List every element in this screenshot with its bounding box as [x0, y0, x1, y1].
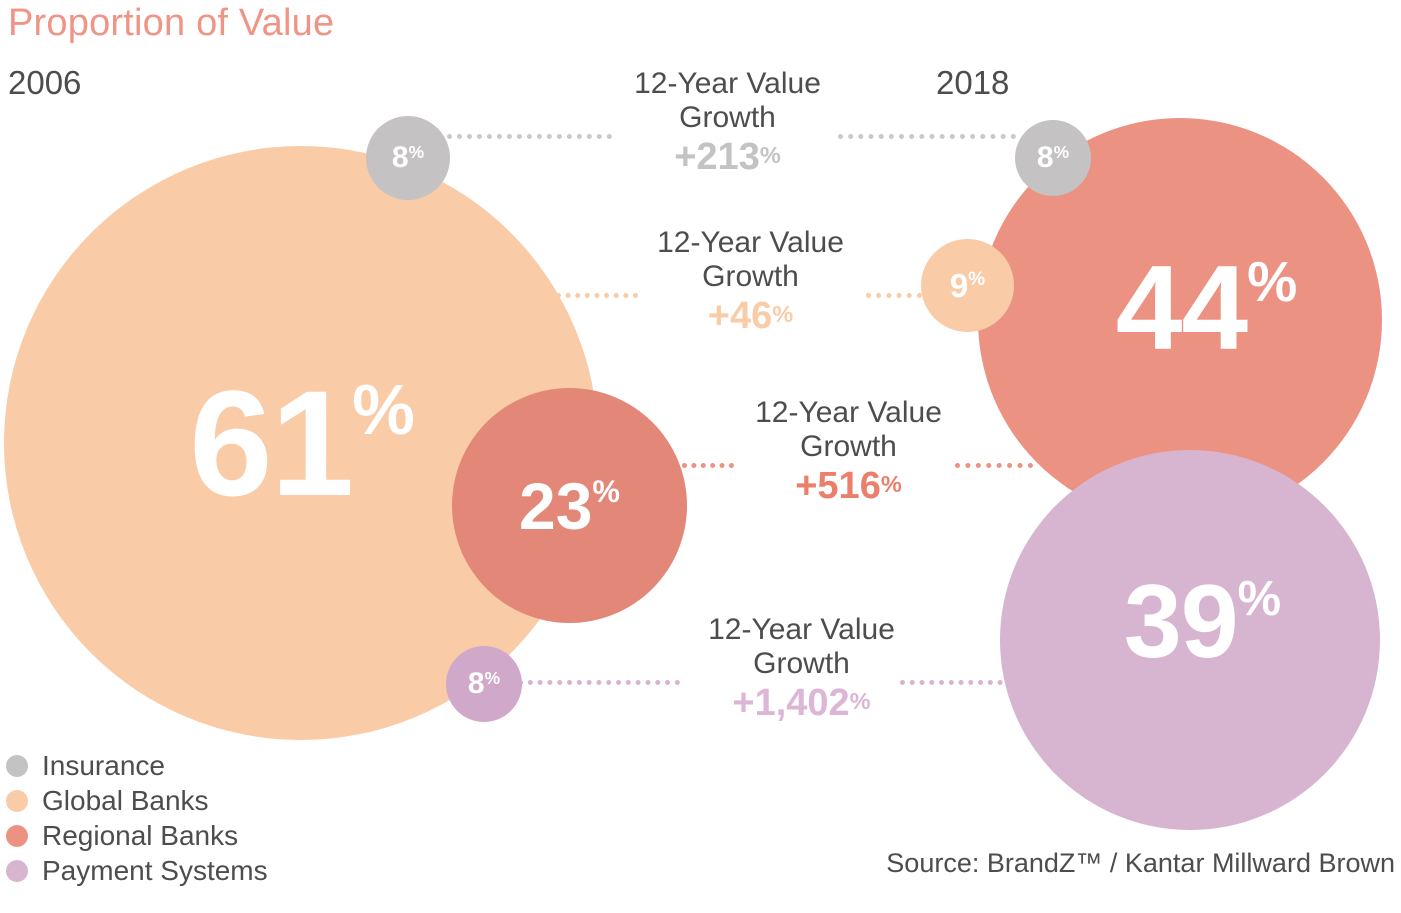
- legend-swatch-icon: [6, 755, 28, 777]
- legend: Insurance Global Banks Regional Banks Pa…: [6, 748, 268, 888]
- legend-label: Regional Banks: [42, 820, 238, 852]
- legend-swatch-icon: [6, 825, 28, 847]
- bubble-value-regional-banks-2018: 44: [1116, 248, 1247, 368]
- bubble-insurance-2018[interactable]: 8%: [1015, 120, 1091, 196]
- callout-regional-banks: 12-Year Value Growth +516%: [710, 396, 987, 505]
- callout-amount-insurance: +213%: [589, 138, 866, 176]
- callout-caption-line2: Growth: [658, 647, 945, 681]
- callout-caption-line2: Growth: [710, 430, 987, 464]
- bubble-regional-banks-2006[interactable]: 23%: [452, 388, 687, 623]
- bubble-value-global-banks-2018: 9: [950, 269, 968, 302]
- callout-caption-line2: Growth: [589, 101, 866, 135]
- page-title: Proportion of Value: [8, 2, 334, 45]
- connector-payment-systems-left: [518, 680, 680, 690]
- legend-swatch-icon: [6, 860, 28, 882]
- legend-swatch-icon: [6, 790, 28, 812]
- bubble-payment-systems-2018[interactable]: 39%: [1000, 450, 1380, 830]
- callout-amount-value: +516: [795, 465, 881, 507]
- percent-sign: %: [485, 670, 500, 687]
- legend-item-payment-systems[interactable]: Payment Systems: [6, 853, 268, 888]
- percent-sign: %: [1238, 575, 1280, 624]
- callout-caption-line1: 12-Year Value: [612, 226, 889, 260]
- legend-item-global-banks[interactable]: Global Banks: [6, 783, 268, 818]
- callout-amount-payment-systems: +1,402%: [658, 684, 945, 722]
- bubble-value-insurance-2018: 8: [1037, 143, 1054, 173]
- percent-sign: %: [881, 471, 902, 497]
- callout-amount-global-banks: +46%: [612, 297, 889, 335]
- legend-item-regional-banks[interactable]: Regional Banks: [6, 818, 268, 853]
- percent-sign: %: [409, 144, 424, 161]
- percent-sign: %: [1247, 254, 1296, 310]
- callout-amount-value: +213: [674, 136, 760, 178]
- callout-caption-line1: 12-Year Value: [589, 67, 866, 101]
- callout-caption-line1: 12-Year Value: [658, 613, 945, 647]
- bubble-value-payment-systems-2006: 8: [468, 669, 485, 699]
- callout-caption-line1: 12-Year Value: [710, 396, 987, 430]
- legend-label: Insurance: [42, 750, 165, 782]
- year-label-2006: 2006: [8, 64, 81, 102]
- callout-caption-line2: Growth: [612, 260, 889, 294]
- percent-sign: %: [592, 476, 620, 507]
- legend-label: Payment Systems: [42, 855, 268, 887]
- callout-global-banks: 12-Year Value Growth +46%: [612, 226, 889, 335]
- bubble-insurance-2006[interactable]: 8%: [366, 116, 450, 200]
- legend-label: Global Banks: [42, 785, 209, 817]
- bubble-global-banks-2018[interactable]: 9%: [921, 239, 1014, 332]
- year-label-2018: 2018: [936, 64, 1009, 102]
- percent-sign: %: [850, 688, 871, 714]
- percent-sign: %: [760, 142, 781, 168]
- bubble-value-global-banks-2006: 61: [189, 368, 352, 518]
- bubble-value-regional-banks-2006: 23: [519, 473, 592, 539]
- bubble-value-insurance-2006: 8: [392, 143, 409, 173]
- connector-insurance-left: [447, 134, 612, 144]
- percent-sign: %: [772, 301, 793, 327]
- bubble-payment-systems-2006[interactable]: 8%: [446, 646, 522, 722]
- bubble-value-payment-systems-2018: 39: [1124, 570, 1238, 674]
- callout-amount-value: +46: [708, 295, 772, 337]
- infographic-canvas: Proportion of Value 2006 2018 61% 23% 8%…: [0, 0, 1401, 913]
- percent-sign: %: [352, 375, 413, 446]
- percent-sign: %: [968, 270, 985, 289]
- legend-item-insurance[interactable]: Insurance: [6, 748, 268, 783]
- percent-sign: %: [1054, 144, 1069, 161]
- source-attribution: Source: BrandZ™ / Kantar Millward Brown: [886, 848, 1395, 879]
- callout-amount-regional-banks: +516%: [710, 467, 987, 505]
- callout-insurance: 12-Year Value Growth +213%: [589, 67, 866, 176]
- callout-payment-systems: 12-Year Value Growth +1,402%: [658, 613, 945, 722]
- callout-amount-value: +1,402: [732, 682, 849, 724]
